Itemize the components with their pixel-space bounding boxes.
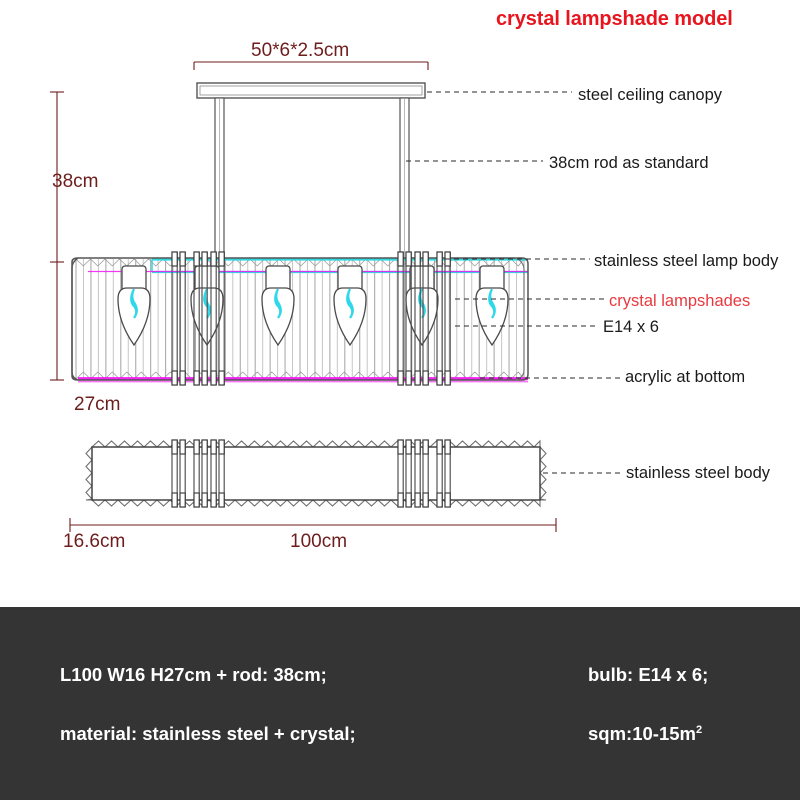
dimension-body-width: 16.6cm [63, 531, 125, 553]
plan-mount-cap [415, 440, 420, 454]
crystal-mount-cap [415, 371, 420, 385]
callout-stainless-steel-lamp-body: stainless steel lamp body [594, 252, 778, 271]
crystal-mount-cap [211, 252, 216, 266]
plan-mount-cap [172, 493, 177, 507]
plan-mount-cap [423, 440, 428, 454]
crystal-mount-cap [445, 371, 450, 385]
crystal-mount-cap [398, 371, 403, 385]
crystal-mount-cap [423, 252, 428, 266]
callout-steel-ceiling-canopy: steel ceiling canopy [578, 86, 722, 105]
callout-stainless-steel-body: stainless steel body [626, 464, 770, 483]
rod-inner-lines [220, 99, 405, 259]
specification-footer [0, 607, 800, 800]
canopy-dimension-bracket [194, 62, 428, 70]
height-dimension-line [50, 92, 64, 380]
callout-rod: 38cm rod as standard [549, 154, 709, 173]
spec-sqm-value: 10-15 [632, 723, 679, 744]
crystal-mount-cap [406, 252, 411, 266]
spec-sqm: sqm:10-15m2 [588, 723, 702, 745]
spec-sqm-label: sqm: [588, 723, 632, 744]
spec-material: material: stainless steel + crystal; [60, 723, 356, 745]
plan-mount-cap [202, 493, 207, 507]
crystal-mount-cap [202, 371, 207, 385]
dimension-body-length: 100cm [290, 531, 347, 553]
plan-mount-cap [172, 440, 177, 454]
callout-crystal-lampshades: crystal lampshades [609, 292, 750, 311]
plan-mount-cap [180, 440, 185, 454]
crystal-mount-cap [219, 252, 224, 266]
plan-mount-cap [219, 440, 224, 454]
crystal-mount-cap [406, 371, 411, 385]
width-dimension-line [70, 518, 556, 532]
spec-bulb: bulb: E14 x 6; [588, 664, 708, 686]
dimension-drop-height: 38cm [52, 171, 98, 193]
crystal-mount-cap [415, 252, 420, 266]
page-title: crystal lampshade model [496, 8, 733, 31]
plan-mount-cap [194, 440, 199, 454]
plan-mount-cap [219, 493, 224, 507]
product-spec-diagram: crystal lampshade model steel ceiling ca… [0, 0, 800, 800]
callout-acrylic-at-bottom: acrylic at bottom [625, 368, 745, 387]
plan-mount-cap [211, 493, 216, 507]
spec-sqm-unit: m [680, 723, 696, 744]
plan-mount-cap [415, 493, 420, 507]
plan-mount-cap [180, 493, 185, 507]
dimension-body-height: 27cm [74, 394, 120, 416]
crystal-mount-cap [211, 371, 216, 385]
crystal-mount-cap [194, 252, 199, 266]
crystal-mount-cap [180, 371, 185, 385]
plan-mount-cap [202, 440, 207, 454]
plan-mount-cap [445, 440, 450, 454]
crystal-mount-cap [180, 252, 185, 266]
crystal-mount-cap [172, 371, 177, 385]
crystal-mount-cap [437, 371, 442, 385]
spec-size: L100 W16 H27cm + rod: 38cm; [60, 664, 327, 686]
spec-sqm-superscript: 2 [696, 724, 702, 736]
dimension-canopy: 50*6*2.5cm [251, 40, 349, 62]
plan-mount-cap [211, 440, 216, 454]
callout-bulb-spec: E14 x 6 [603, 318, 659, 337]
plan-mount-cap [406, 440, 411, 454]
plan-mount-cap [445, 493, 450, 507]
suspension-rods [215, 98, 409, 260]
crystal-mount-cap [194, 371, 199, 385]
crystal-mount-cap [172, 252, 177, 266]
plan-mount-cap [406, 493, 411, 507]
plan-mount-cap [398, 493, 403, 507]
lamp-body-plan-view [86, 440, 546, 507]
steel-ceiling-canopy [197, 83, 425, 98]
plan-mount-cap [194, 493, 199, 507]
plan-mount-cap [423, 493, 428, 507]
crystal-mount-cap [202, 252, 207, 266]
plan-mount-cap [437, 493, 442, 507]
crystal-mount-cap [398, 252, 403, 266]
crystal-mount-cap [437, 252, 442, 266]
crystal-mount-cap [423, 371, 428, 385]
crystal-mount-cap [219, 371, 224, 385]
plan-mount-cap [398, 440, 403, 454]
plan-mount-cap [437, 440, 442, 454]
